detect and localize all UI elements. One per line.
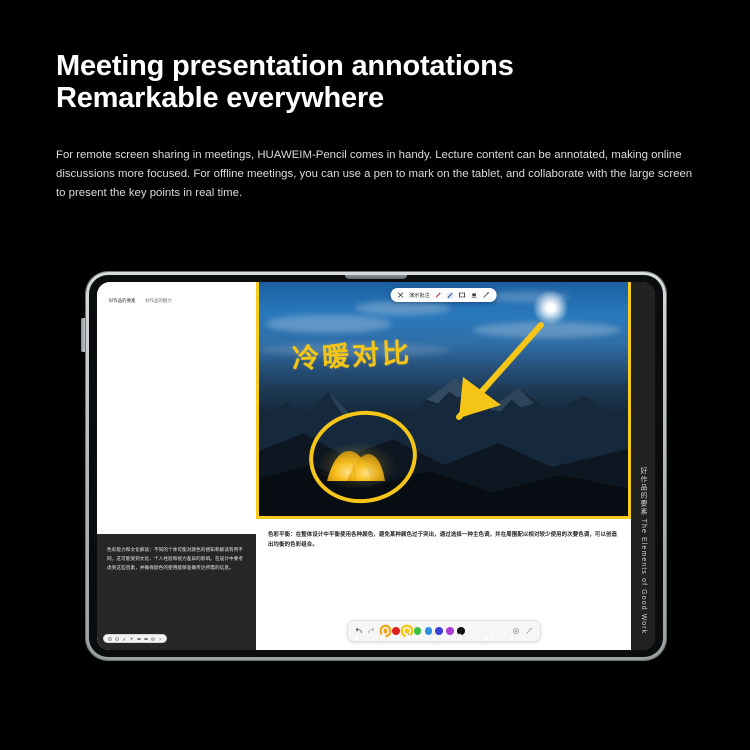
headline-line-2: Remarkable everywhere [56, 82, 716, 114]
annotation-toolbar[interactable]: 演示批注 [390, 288, 497, 302]
page-title: Meeting presentation annotations Remarka… [56, 50, 716, 114]
hero-section: Meeting presentation annotations Remarka… [56, 50, 716, 203]
rect-icon[interactable] [144, 637, 148, 641]
tablet-screen: 好作品的要素 好作品的魅力 色彩能力和文化解读：不同的个体可能对颜色的感知和解读… [97, 282, 655, 650]
record-icon[interactable] [108, 637, 112, 641]
cursor-icon[interactable] [130, 637, 134, 641]
cloud-shape [266, 315, 391, 334]
ink-arrow-annotation [419, 317, 549, 437]
chevron-right-icon[interactable] [158, 637, 162, 641]
pen-tool-icon[interactable] [435, 292, 442, 299]
pen-icon[interactable] [122, 637, 126, 641]
slide-photo: 冷暖对比 [256, 282, 631, 519]
hero-body-text: For remote screen sharing in meetings, H… [56, 146, 701, 203]
tablet-bezel: 好作品的要素 好作品的魅力 色彩能力和文化解读：不同的个体可能对颜色的感知和解读… [89, 275, 663, 657]
document-tab-bar: 好作品的要素 好作品的魅力 [97, 282, 256, 304]
handwritten-annotation: 冷暖对比 [291, 331, 413, 376]
close-icon[interactable] [397, 292, 404, 299]
shape-tool-icon[interactable] [459, 292, 466, 299]
laser-pointer-tool-icon[interactable] [483, 292, 490, 299]
document-pane: 好作品的要素 好作品的魅力 色彩能力和文化解读：不同的个体可能对颜色的感知和解读… [97, 282, 256, 650]
eraser-tool-icon[interactable] [471, 292, 478, 299]
highlighter-tool-icon[interactable] [447, 292, 454, 299]
slide-area: 冷暖对比 [256, 282, 631, 650]
page-root: Meeting presentation annotations Remarka… [0, 0, 750, 750]
rect-icon[interactable] [137, 637, 141, 641]
pen-tray[interactable] [348, 630, 540, 641]
camera-notch [345, 275, 407, 279]
tablet-device: 好作品的要素 好作品的魅力 色彩能力和文化解读：不同的个体可能对颜色的感知和解读… [86, 272, 666, 660]
document-body [97, 304, 256, 534]
document-control-bar[interactable] [103, 634, 167, 643]
moon-icon [548, 304, 555, 311]
side-strip-label: 好作品的要素 The Elements of Good Work [638, 467, 648, 634]
presentation-pane: 冷暖对比 [256, 282, 655, 650]
headline-line-1: Meeting presentation annotations [56, 50, 716, 82]
cloud-shape [488, 291, 569, 303]
slide-side-strip: 好作品的要素 The Elements of Good Work [631, 282, 655, 650]
document-note-block: 色彩能力和文化解读：不同的个体可能对颜色的感知和解读有所不同，这可能受到文化、个… [97, 534, 256, 650]
annotation-toolbar-title: 演示批注 [409, 292, 430, 299]
camera-icon[interactable] [151, 637, 155, 641]
settings-icon[interactable] [115, 637, 119, 641]
power-button[interactable] [81, 318, 85, 352]
cloud-shape [355, 301, 451, 315]
pen-toolbar[interactable] [347, 620, 541, 642]
slide-caption-text: 色彩平衡：在整体设计中平衡使用各种颜色，避免某种颜色过于突出，通过选择一种主色调… [268, 530, 619, 550]
